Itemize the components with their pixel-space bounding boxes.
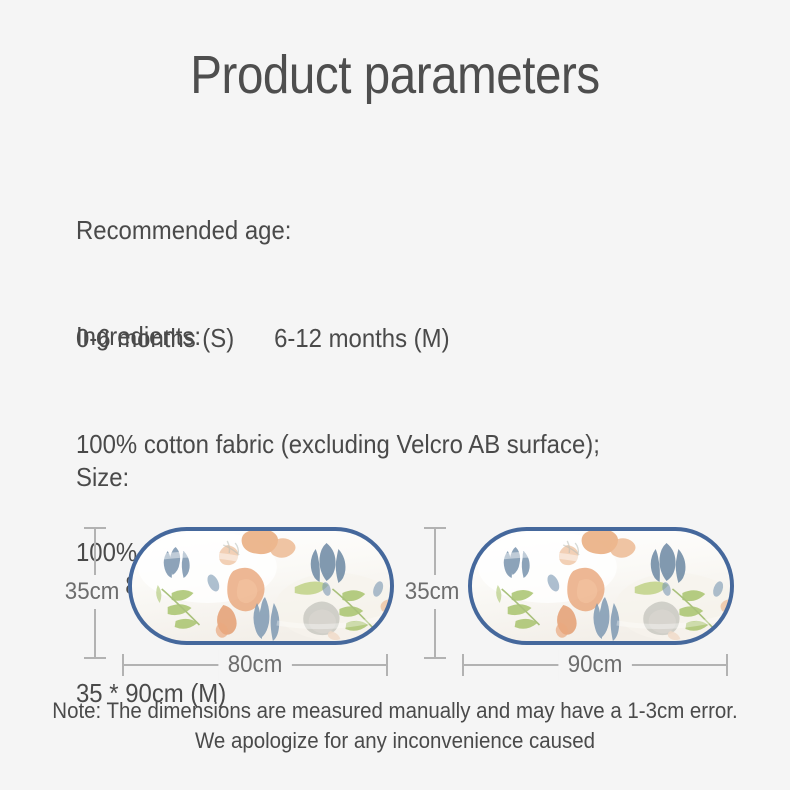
diagram-size-s: 35cm <box>66 515 396 680</box>
measurement-note-line-2: We apologize for any inconvenience cause… <box>28 726 763 756</box>
ingredients-heading: Ingredients: <box>76 318 600 354</box>
measurement-note-line-1: Note: The dimensions are measured manual… <box>28 696 763 726</box>
width-dimension-cap-left-m <box>462 654 464 676</box>
product-dimension-diagrams: 35cm <box>0 515 790 680</box>
width-dimension-label-m: 90cm <box>558 650 631 680</box>
pillow-shape-s <box>128 527 394 645</box>
pillow-illustration-m <box>468 527 734 645</box>
width-dimension-label-s: 80cm <box>218 650 291 680</box>
width-dimension-cap-right-m <box>726 654 728 676</box>
width-dimension-m: 90cm <box>462 650 728 680</box>
height-dimension-label-m: 35cm <box>402 575 462 609</box>
page-title: Product parameters <box>47 44 742 106</box>
pillow-shape-m <box>468 527 734 645</box>
size-heading: Size: <box>76 459 226 495</box>
width-dimension-cap-left-s <box>122 654 124 676</box>
height-dimension-label-s: 35cm <box>62 575 122 609</box>
diagram-size-m: 35cm <box>406 515 736 680</box>
width-dimension-cap-right-s <box>386 654 388 676</box>
width-dimension-s: 80cm <box>122 650 388 680</box>
recommended-age-heading: Recommended age: <box>76 212 450 248</box>
measurement-note: Note: The dimensions are measured manual… <box>28 696 763 756</box>
pillow-illustration-s <box>128 527 394 645</box>
